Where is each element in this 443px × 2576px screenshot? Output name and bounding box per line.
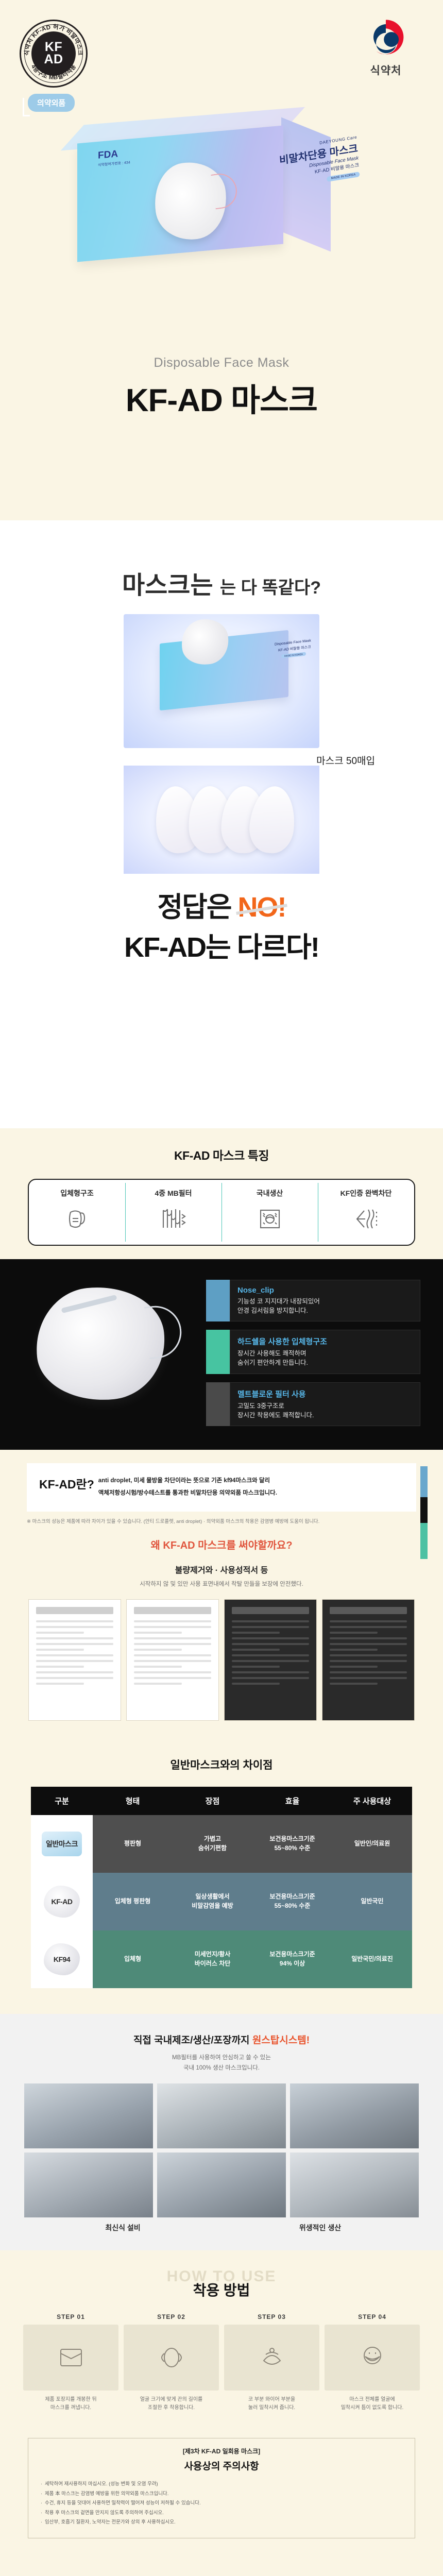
definition-text: anti droplet, 미세 물방울 차단이라는 뜻으로 기존 kf94마스…: [98, 1475, 277, 1499]
step-illustration: [23, 2325, 118, 2391]
cell-form: 입체형 평판형: [93, 1873, 173, 1930]
product-box-photo: FDA 식약청허가번호 : 434 DAEYOUNG Care 비말차단용 마스…: [77, 116, 366, 281]
definition-row: KF-AD란? anti droplet, 미세 물방울 차단이라는 뜻으로 기…: [39, 1475, 404, 1499]
factory-photo-grid: [24, 2083, 419, 2217]
product-landing-page: 식약처 KF-AD 허가 비말마스크 4중구조 MB필터적용 KF AD 의약외…: [0, 0, 443, 2562]
hero-section: 식약처 KF-AD 허가 비말마스크 4중구조 MB필터적용 KF AD 의약외…: [0, 0, 443, 520]
filter-layers-icon: [127, 1205, 219, 1233]
mask-detail-photo: [0, 1273, 206, 1434]
callout-swatch-gray: [206, 1382, 230, 1426]
caution-section: [제3차 KF-AD 일회용 마스크] 사용상의 주의사항 세탁하여 재사용하지…: [0, 2433, 443, 2562]
cell-form: 평판형: [93, 1815, 173, 1873]
comparison-section: 일반마스크와의 차이점 구분 형태 장점 효율 주 사용대상 일반마스크: [0, 1734, 443, 2014]
callout-body: 하드쉘을 사용한 입체형구조 장시간 사용해도 쾌적하며숨쉬기 편안하게 만듭니…: [230, 1330, 420, 1374]
factory-caption-hygiene: 위생적인 생산: [221, 2223, 419, 2233]
factory-caption-equipment: 최신식 설비: [24, 2223, 221, 2233]
factory-title-emphasis: 원스탑시스템!: [252, 2035, 310, 2046]
factory-title: 직접 국내제조/생산/포장까지 원스탑시스템!: [0, 2032, 443, 2046]
cert-header-bar: [134, 1607, 211, 1614]
cert-header-bar: [36, 1607, 113, 1614]
feature-label: 4중 MB필터: [127, 1188, 219, 1198]
table-row: KF-AD 입체형 평판형 일상생활에서비말감염을 예방 보건용마스크기준55~…: [31, 1873, 412, 1930]
taeguk-swirl-icon: [366, 18, 405, 57]
features-title: KF-AD 마스크 특징: [0, 1146, 443, 1163]
svg-text:식약처 KF-AD 허가 비말마스크: 식약처 KF-AD 허가 비말마스크: [23, 23, 83, 56]
feature-label: KF인증 완벽차단: [320, 1188, 412, 1198]
same-title: 마스크는 는 다 똑같다?: [0, 536, 443, 601]
table-row: KF94 입체형 미세먼지/황사바이러스 차단 보건용마스크기준94% 이상 일…: [31, 1930, 412, 1988]
kf-ad-stamp-circle: 식약처 KF-AD 허가 비말마스크 4중구조 MB필터적용 KF AD: [20, 20, 88, 88]
cell-target: 일반국민: [332, 1873, 412, 1930]
callout-desc: 기능성 코 지지대가 내장되있어안경 김서림을 방지합니다.: [237, 1297, 413, 1315]
same-title-strong: 마스크는: [122, 572, 213, 599]
kf-ad-stamp: 식약처 KF-AD 허가 비말마스크 4중구조 MB필터적용 KF AD 의약외…: [20, 20, 92, 112]
mask-3d-icon: [31, 1205, 123, 1233]
loose-masks-photo: [124, 766, 319, 874]
answer-line-2: KF-AD는 다르다!: [0, 924, 443, 965]
step-label: STEP 03: [224, 2313, 319, 2320]
callout-swatch-blue: [206, 1280, 230, 1321]
features-card: 입체형구조 4중 MB필터: [28, 1179, 415, 1246]
box-fda-text: FDA: [98, 148, 118, 161]
cell-target: 일반인/의료원: [332, 1815, 412, 1873]
answer-kfad: KF-AD: [124, 932, 206, 963]
color-stripe-decor: [420, 1466, 428, 1559]
box-quantity-caption: 마스크 50매입: [316, 753, 375, 767]
step-caption: 제품 포장지를 개봉한 뒤마스크를 꺼냅니다.: [23, 2396, 118, 2412]
box-made-in-korea: MADE IN KOREA: [327, 172, 360, 182]
factory-photo: [290, 2153, 419, 2217]
korea-flag-icon: [224, 1205, 316, 1233]
row-label: KF-AD: [51, 1896, 72, 1907]
callout-title: 멜트블로운 필터 사용: [237, 1388, 413, 1399]
caution-list: 세탁하여 재사용하지 마십시오. (성능 변화 및 오염 우려) 제품 本 마스…: [40, 2480, 403, 2528]
feature-label: 입체형구조: [31, 1188, 123, 1198]
cert-lines: [36, 1620, 113, 1688]
why-wear-paragraph: 시작하지 않 및 있만 사용 표면내에서 착탈 만들을 보장에 안전했다.: [0, 1580, 443, 1590]
answer-different: 는 다르다!: [206, 932, 319, 963]
step-item-3: STEP 03 코 부분 와이어 부분을눌러 밀착시켜 줍니다.: [224, 2313, 319, 2412]
factory-photo: [24, 2083, 153, 2148]
why-wear-title: 왜 KF-AD 마스크를 써야할까요?: [0, 1537, 443, 1552]
feature-column-filter: 4중 MB필터: [125, 1180, 221, 1245]
step-caption: 얼굴 크기에 맞게 끈의 길이를조절한 후 착용합니다.: [124, 2396, 219, 2412]
feature-column-3d: 입체형구조: [29, 1180, 125, 1245]
stamp-arc-bottom: 4중구조 MB필터적용: [30, 63, 78, 81]
row-label: KF94: [54, 1954, 70, 1964]
callout-nose-clip: Nose_clip 기능성 코 지지대가 내장되있어안경 김서림을 방지합니다.: [206, 1280, 420, 1321]
step-item-4: STEP 04 마스크 전체를 얼굴에밀착시켜 틈이 없도록 합니다.: [325, 2313, 420, 2412]
certificate-3: [224, 1599, 317, 1721]
open-package-icon: [23, 2325, 118, 2391]
definition-card: KF-AD란? anti droplet, 미세 물방울 차단이라는 뜻으로 기…: [27, 1463, 416, 1512]
cell-form: 입체형: [93, 1930, 173, 1988]
cell-merit: 일상생활에서비말감염을 예방: [173, 1873, 252, 1930]
row-image-cell: 일반마스크: [31, 1815, 93, 1873]
block-particles-icon: [320, 1205, 412, 1233]
caution-item: 착용 후 마스크의 겉면을 만지지 않도록 주의하여 주십시오.: [40, 2509, 403, 2518]
callout-desc: 고밀도 3중구조로장시간 착용에도 쾌적합니다.: [237, 1401, 413, 1420]
comparison-title: 일반마스크와의 차이점: [0, 1757, 443, 1772]
callout-list: Nose_clip 기능성 코 지지대가 내장되있어안경 김서림을 방지합니다.…: [206, 1273, 433, 1434]
step-caption: 마스크 전체를 얼굴에밀착시켜 틈이 없도록 합니다.: [325, 2396, 420, 2412]
how-to-use-korean: 착용 방법: [0, 2279, 443, 2300]
certificate-row: [26, 1599, 417, 1721]
step-caption: 코 부분 와이어 부분을눌러 밀착시켜 줍니다.: [224, 2396, 319, 2412]
certificates-section: 왜 KF-AD 마스크를 써야할까요? 불량제거와 · 사용성적서 등 시작하지…: [0, 1528, 443, 1734]
feature-column-domestic: 국내생산: [221, 1180, 318, 1245]
press-nose-wire-icon: [224, 2325, 319, 2391]
cert-header-bar: [330, 1607, 407, 1614]
comparison-table: 구분 형태 장점 효율 주 사용대상 일반마스크 평판형 가볍: [31, 1787, 412, 1988]
th-target: 주 사용대상: [332, 1787, 412, 1815]
factory-title-a: 직접 국내제조/생산/포장까지: [133, 2035, 252, 2046]
step-illustration: [325, 2325, 420, 2391]
factory-paragraph: MB필터를 사용하여 안심하고 쓸 수 있는국내 100% 생산 마스크입니다.: [0, 2053, 443, 2073]
same-title-rest: 는 다 똑같다?: [220, 578, 321, 598]
callout-swatch-mint: [206, 1330, 230, 1374]
certificate-4: [322, 1599, 415, 1721]
row-image-cell: KF-AD: [31, 1873, 93, 1930]
answer-prefix: 정답은: [157, 892, 231, 923]
all-masks-same-section: 마스크는 는 다 똑같다? Disposable Face Mask KF-AD…: [0, 520, 443, 1128]
callout-body: Nose_clip 기능성 코 지지대가 내장되있어안경 김서림을 방지합니다.: [230, 1280, 420, 1321]
caution-item: 임산부, 호흡기 질환자, 노약자는 전문가와 상의 후 사용하십시오.: [40, 2518, 403, 2528]
definition-note: ※ 마스크의 성능은 제품에 따라 차이가 있을 수 있습니다. (안티 드로플…: [27, 1518, 416, 1526]
answer-line-1: 정답은 NO!: [0, 893, 443, 921]
caution-header-small: [제3차 KF-AD 일회용 마스크]: [40, 2447, 403, 2455]
th-category: 구분: [31, 1787, 93, 1815]
cert-lines: [134, 1620, 211, 1688]
callout-hard-shell: 하드쉘을 사용한 입체형구조 장시간 사용해도 쾌적하며숨쉬기 편안하게 만듭니…: [206, 1330, 420, 1374]
th-form: 형태: [93, 1787, 173, 1815]
quasi-drug-badge: 의약외품: [28, 94, 75, 112]
definition-line-1: anti droplet, 미세 물방울 차단이라는 뜻으로 기존 kf94마스…: [98, 1478, 270, 1484]
why-wear-subtitle: 불량제거와 · 사용성적서 등: [0, 1563, 443, 1575]
callout-title: Nose_clip: [237, 1286, 413, 1295]
how-to-use-section: HOW TO USE 착용 방법 STEP 01 제품 포장지를 개봉한 뒤마스…: [0, 2250, 443, 2433]
table-row: 일반마스크 평판형 가볍고숨쉬기편함 보건용마스크기준55~80% 수준 일반인…: [31, 1815, 412, 1873]
row-image-cell: KF94: [31, 1930, 93, 1988]
step-item-1: STEP 01 제품 포장지를 개봉한 뒤마스크를 꺼냅니다.: [23, 2313, 118, 2412]
th-merit: 장점: [173, 1787, 252, 1815]
stamp-arc-top: 식약처 KF-AD 허가 비말마스크: [23, 23, 83, 56]
caution-header-big: 사용상의 주의사항: [40, 2459, 403, 2472]
adjust-strap-icon: [124, 2325, 219, 2391]
row-label: 일반마스크: [46, 1839, 78, 1849]
table-header-row: 구분 형태 장점 효율 주 사용대상: [31, 1787, 412, 1815]
step-grid: STEP 01 제품 포장지를 개봉한 뒤마스크를 꺼냅니다. STEP 02: [23, 2313, 420, 2412]
fit-mask-face-icon: [325, 2325, 420, 2391]
cell-merit: 가볍고숨쉬기편함: [173, 1815, 252, 1873]
step-label: STEP 02: [124, 2313, 219, 2320]
factory-captions: 최신식 설비 위생적인 생산: [24, 2223, 419, 2233]
hero-title: KF-AD 마스크: [0, 374, 443, 420]
svg-text:4중구조 MB필터적용: 4중구조 MB필터적용: [30, 63, 78, 81]
cell-efficiency: 보건용마스크기준55~80% 수준: [252, 1815, 332, 1873]
stripe-black: [420, 1497, 428, 1523]
callout-body: 멜트블로운 필터 사용 고밀도 3중구조로장시간 착용에도 쾌적합니다.: [230, 1382, 420, 1426]
stripe-mint: [420, 1523, 428, 1559]
definition-line-2: 액체저항성시험/방수테스트를 통과한 비말차단용 의약외품 마스크입니다.: [98, 1490, 277, 1496]
callout-title: 하드쉘을 사용한 입체형구조: [237, 1336, 413, 1347]
step-label: STEP 01: [23, 2313, 118, 2320]
cert-header-bar: [232, 1607, 309, 1614]
stripe-blue: [420, 1466, 428, 1497]
box-fda-label: FDA 식약청허가번호 : 434: [98, 147, 130, 167]
answer-block: 정답은 NO! KF-AD는 다르다!: [0, 893, 443, 965]
cell-merit: 미세먼지/황사바이러스 차단: [173, 1930, 252, 1988]
step-label: STEP 04: [325, 2313, 420, 2320]
stamp-arc-text-icon: 식약처 KF-AD 허가 비말마스크 4중구조 MB필터적용: [20, 20, 88, 88]
cert-lines: [232, 1620, 309, 1688]
certificate-1: [28, 1599, 121, 1721]
step-illustration: [224, 2325, 319, 2391]
hero-subtitle: Disposable Face Mask: [0, 355, 443, 370]
boxed-mask-photo: Disposable Face Mask KF-AD 비말용 마스크 MADE …: [124, 614, 319, 748]
factory-photo: [157, 2153, 286, 2217]
cert-lines: [330, 1620, 407, 1688]
feature-label: 국내생산: [224, 1188, 316, 1198]
cell-efficiency: 보건용마스크기준55~80% 수준: [252, 1873, 332, 1930]
features-section: KF-AD 마스크 특징 입체형구조 4중 MB필터: [0, 1128, 443, 1259]
factory-section: 직접 국내제조/생산/포장까지 원스탑시스템! MB필터를 사용하여 안심하고 …: [0, 2014, 443, 2250]
factory-photo: [157, 2083, 286, 2148]
caution-box: [제3차 KF-AD 일회용 마스크] 사용상의 주의사항 세탁하여 재사용하지…: [28, 2438, 415, 2538]
definition-question: KF-AD란?: [39, 1475, 94, 1492]
step-illustration: [124, 2325, 219, 2391]
step-item-2: STEP 02 얼굴 크기에 맞게 끈의 길이를조절한 후 착용합니다.: [124, 2313, 219, 2412]
factory-photo: [290, 2083, 419, 2148]
answer-no-badge: NO!: [238, 893, 286, 921]
mfds-logo: 식약처: [352, 18, 419, 78]
caution-item: 제품 本 마스크는 감염병 예방을 위한 의약외품 마스크입니다.: [40, 2489, 403, 2499]
callout-desc: 장시간 사용해도 쾌적하며숨쉬기 편안하게 만듭니다.: [237, 1349, 413, 1367]
cell-efficiency: 보건용마스크기준94% 이상: [252, 1930, 332, 1988]
certificate-2: [126, 1599, 219, 1721]
factory-photo: [24, 2153, 153, 2217]
th-efficiency: 효율: [252, 1787, 332, 1815]
kfad-definition-section: KF-AD란? anti droplet, 미세 물방울 차단이라는 뜻으로 기…: [0, 1450, 443, 1528]
callout-meltblown-filter: 멜트블로운 필터 사용 고밀도 3중구조로장시간 착용에도 쾌적합니다.: [206, 1382, 420, 1426]
cell-target: 일반국민/의료진: [332, 1930, 412, 1988]
feature-column-kf-cert: KF인증 완벽차단: [318, 1180, 414, 1245]
caution-item: 세탁하여 재사용하지 마십시오. (성능 변화 및 오염 우려): [40, 2480, 403, 2489]
caution-item: 수건, 휴지 등을 덧대어 사용하면 밀착력이 떨어져 성능이 저하될 수 있습…: [40, 2499, 403, 2509]
decorative-bracket: [23, 98, 30, 116]
mfds-name: 식약처: [352, 62, 419, 78]
mask-detail-dark-section: Nose_clip 기능성 코 지지대가 내장되있어안경 김서림을 방지합니다.…: [0, 1259, 443, 1450]
